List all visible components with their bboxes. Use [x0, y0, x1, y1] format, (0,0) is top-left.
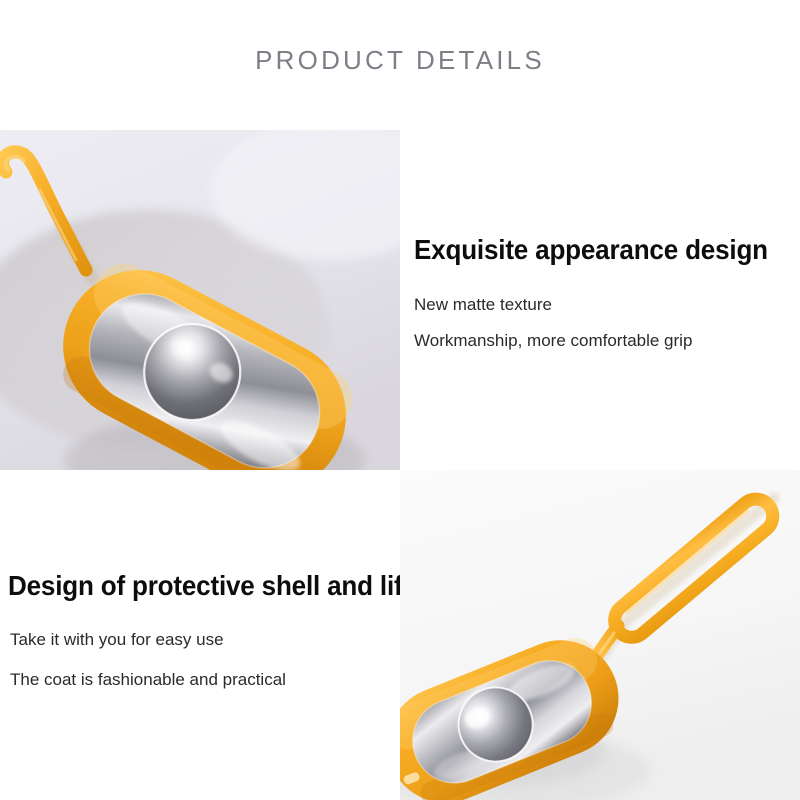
- product-with-lifting-rope-image: [400, 470, 800, 800]
- feature-line-protective-shell-2: The coat is fashionable and practical: [10, 670, 286, 690]
- feature-text-appearance: Exquisite appearance design New matte te…: [400, 130, 800, 470]
- feature-line-appearance-2: Workmanship, more comfortable grip: [414, 331, 692, 351]
- product-photo-protective-shell: [400, 470, 800, 800]
- feature-line-protective-shell-1: Take it with you for easy use: [10, 630, 224, 650]
- feature-line-appearance-1: New matte texture: [414, 295, 552, 315]
- page-header: PRODUCT DETAILS: [0, 0, 800, 130]
- page-title: PRODUCT DETAILS: [0, 45, 800, 76]
- product-details-page: PRODUCT DETAILS: [0, 0, 800, 800]
- product-photo-appearance: [0, 130, 400, 470]
- feature-text-protective-shell: Design of protective shell and lifting r…: [0, 470, 400, 800]
- yellow-silicone-case-closeup-image: [0, 130, 400, 470]
- feature-heading-appearance: Exquisite appearance design: [414, 234, 768, 266]
